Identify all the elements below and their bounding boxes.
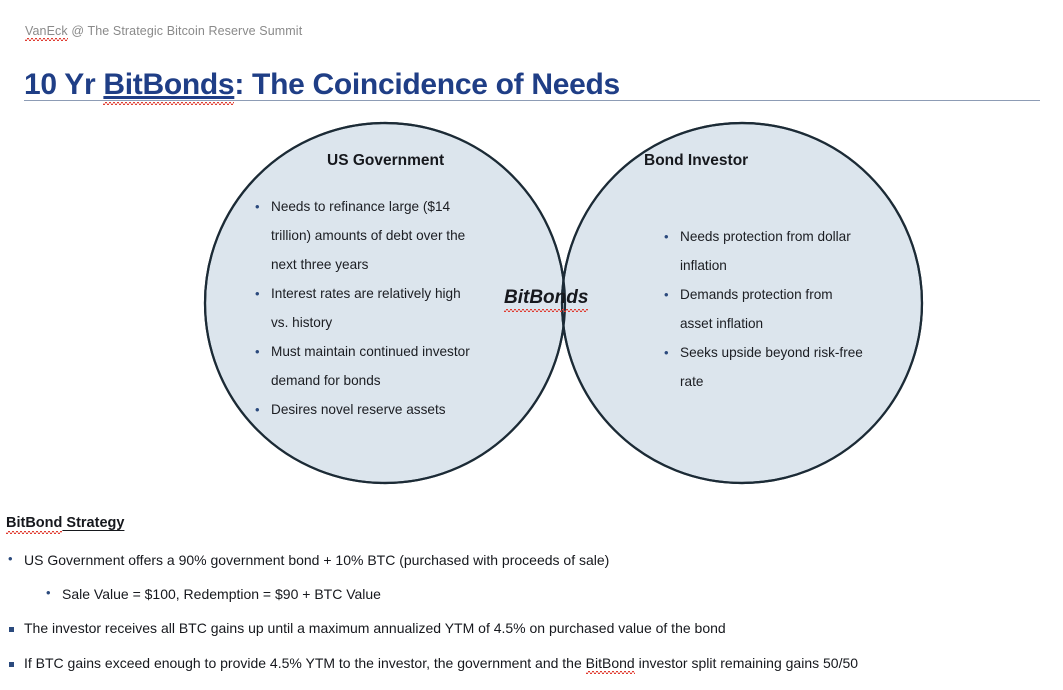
title-part-1: 10 Yr — [24, 68, 103, 101]
list-item: Seeks upside beyond risk-free rate — [662, 338, 867, 396]
bullet-keyword-bitbond: BitBond — [586, 655, 635, 671]
venn-center-label: BitBonds — [504, 287, 588, 309]
list-item: Must maintain continued investor demand … — [253, 337, 481, 395]
venn-right-title: Bond Investor — [644, 152, 748, 170]
presenter-eyebrow: VanEck @ The Strategic Bitcoin Reserve S… — [25, 24, 302, 38]
list-item: Demands protection from asset inflation — [662, 280, 867, 338]
title-keyword-bitbonds: BitBonds — [103, 68, 234, 102]
strategy-bullet: If BTC gains exceed enough to provide 4.… — [6, 655, 858, 671]
strategy-heading-rest: Strategy — [62, 515, 124, 531]
strategy-heading: BitBond Strategy — [6, 515, 124, 531]
list-item: Interest rates are relatively high vs. h… — [253, 279, 481, 337]
venn-right-list: Needs protection from dollar inflation D… — [662, 222, 867, 396]
list-item: Needs to refinance large ($14 trillion) … — [253, 192, 481, 279]
page-title: 10 Yr BitBonds: The Coincidence of Needs — [24, 68, 620, 102]
strategy-sub-bullet: Sale Value = $100, Redemption = $90 + BT… — [44, 586, 381, 602]
title-divider — [24, 100, 1040, 101]
venn-center-label-text: BitBonds — [504, 287, 588, 309]
title-part-3: : The Coincidence of Needs — [234, 68, 620, 101]
venn-left-title: US Government — [327, 152, 444, 170]
strategy-heading-keyword: BitBond — [6, 515, 62, 531]
list-item: Needs protection from dollar inflation — [662, 222, 867, 280]
bullet-text-part-1: If BTC gains exceed enough to provide 4.… — [24, 655, 586, 671]
eyebrow-brand: VanEck — [25, 24, 68, 38]
strategy-bullet: The investor receives all BTC gains up u… — [6, 620, 726, 636]
venn-left-list: Needs to refinance large ($14 trillion) … — [253, 192, 481, 424]
bullet-text-part-3: investor split remaining gains 50/50 — [635, 655, 858, 671]
eyebrow-rest: @ The Strategic Bitcoin Reserve Summit — [68, 24, 303, 38]
strategy-bullet: US Government offers a 90% government bo… — [6, 552, 609, 568]
list-item: Desires novel reserve assets — [253, 395, 481, 424]
